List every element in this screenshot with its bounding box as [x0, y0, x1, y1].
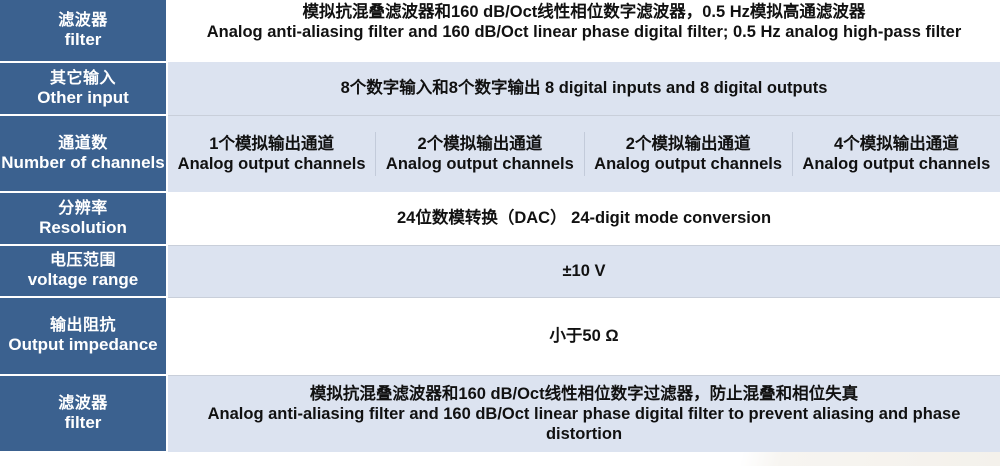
row-label-other-input: 其它输入 Other input — [0, 62, 167, 115]
row-label-en: Number of channels — [0, 153, 166, 173]
row-value-other-input: 8个数字输入和8个数字输出 8 digital inputs and 8 dig… — [167, 62, 1000, 115]
channel-cn: 2个模拟输出通道 — [589, 134, 788, 154]
row-value-filter-bottom: 模拟抗混叠滤波器和160 dB/Oct线性相位数字过滤器，防止混叠和相位失真 A… — [167, 375, 1000, 452]
row-label-filter-top: 滤波器 filter — [0, 0, 167, 62]
row-value-resolution: 24位数模转换（DAC） 24-digit mode conversion — [167, 192, 1000, 245]
row-label-en: Other input — [0, 88, 166, 108]
row-label-cn: 电压范围 — [0, 251, 166, 270]
slide-bottom-background — [0, 452, 1000, 466]
row-label-en: Output impedance — [0, 335, 166, 355]
row-label-number-of-channels: 通道数 Number of channels — [0, 115, 167, 192]
row-label-resolution: 分辨率 Resolution — [0, 192, 167, 245]
row-value-number-of-channels: 1个模拟输出通道 Analog output channels 2个模拟输出通道… — [167, 115, 1000, 192]
row-value-cn: 模拟抗混叠滤波器和160 dB/Oct线性相位数字过滤器，防止混叠和相位失真 — [168, 384, 1000, 404]
row-value-filter-top: 模拟抗混叠滤波器和160 dB/Oct线性相位数字滤波器，0.5 Hz模拟高通滤… — [167, 0, 1000, 53]
channel-cn: 1个模拟输出通道 — [172, 134, 371, 154]
specification-table: 滤波器 filter 模拟抗混叠滤波器和160 dB/Oct线性相位数字滤波器，… — [0, 0, 1000, 453]
channel-en: Analog output channels — [172, 154, 371, 174]
row-value-en: Analog anti-aliasing filter and 160 dB/O… — [168, 404, 1000, 444]
channel-en: Analog output channels — [589, 154, 788, 174]
channel-column-4: 4个模拟输出通道 Analog output channels — [792, 132, 1000, 176]
row-label-en: filter — [0, 413, 166, 433]
channel-column-2: 2个模拟输出通道 Analog output channels — [375, 132, 583, 176]
channel-column-3: 2个模拟输出通道 Analog output channels — [584, 132, 792, 176]
channel-cn: 2个模拟输出通道 — [380, 134, 579, 154]
table-row: 电压范围 voltage range ±10 V — [0, 245, 1000, 297]
row-label-en: filter — [0, 30, 166, 50]
channel-column-1: 1个模拟输出通道 Analog output channels — [168, 132, 375, 176]
table-row: 其它输入 Other input 8个数字输入和8个数字输出 8 digital… — [0, 62, 1000, 115]
table-row: 输出阻抗 Output impedance 小于50 Ω — [0, 297, 1000, 375]
row-label-en: voltage range — [0, 270, 166, 290]
channel-columns: 1个模拟输出通道 Analog output channels 2个模拟输出通道… — [168, 132, 1000, 176]
row-value-text: ±10 V — [168, 261, 1000, 281]
row-value-cn: 模拟抗混叠滤波器和160 dB/Oct线性相位数字滤波器，0.5 Hz模拟高通滤… — [168, 2, 1000, 22]
row-value-en: Analog anti-aliasing filter and 160 dB/O… — [168, 22, 1000, 42]
row-value-text: 24位数模转换（DAC） 24-digit mode conversion — [168, 208, 1000, 228]
row-label-voltage-range: 电压范围 voltage range — [0, 245, 167, 297]
table-row: 通道数 Number of channels 1个模拟输出通道 Analog o… — [0, 115, 1000, 192]
table-row: 滤波器 filter 模拟抗混叠滤波器和160 dB/Oct线性相位数字过滤器，… — [0, 375, 1000, 452]
row-label-cn: 滤波器 — [0, 11, 166, 30]
channel-cn: 4个模拟输出通道 — [797, 134, 996, 154]
row-label-cn: 滤波器 — [0, 394, 166, 413]
row-label-cn: 通道数 — [0, 134, 166, 153]
row-label-en: Resolution — [0, 218, 166, 238]
row-value-voltage-range: ±10 V — [167, 245, 1000, 297]
row-value-text: 小于50 Ω — [168, 326, 1000, 346]
table-row: 分辨率 Resolution 24位数模转换（DAC） 24-digit mod… — [0, 192, 1000, 245]
channel-en: Analog output channels — [380, 154, 579, 174]
slide-canvas: 滤波器 filter 模拟抗混叠滤波器和160 dB/Oct线性相位数字滤波器，… — [0, 0, 1000, 466]
row-label-cn: 其它输入 — [0, 69, 166, 88]
table-row: 滤波器 filter 模拟抗混叠滤波器和160 dB/Oct线性相位数字滤波器，… — [0, 0, 1000, 62]
row-label-filter-bottom: 滤波器 filter — [0, 375, 167, 452]
row-label-output-impedance: 输出阻抗 Output impedance — [0, 297, 167, 375]
row-label-cn: 分辨率 — [0, 199, 166, 218]
row-value-output-impedance: 小于50 Ω — [167, 297, 1000, 375]
row-value-text: 8个数字输入和8个数字输出 8 digital inputs and 8 dig… — [168, 78, 1000, 98]
channel-en: Analog output channels — [797, 154, 996, 174]
row-label-cn: 输出阻抗 — [0, 316, 166, 335]
